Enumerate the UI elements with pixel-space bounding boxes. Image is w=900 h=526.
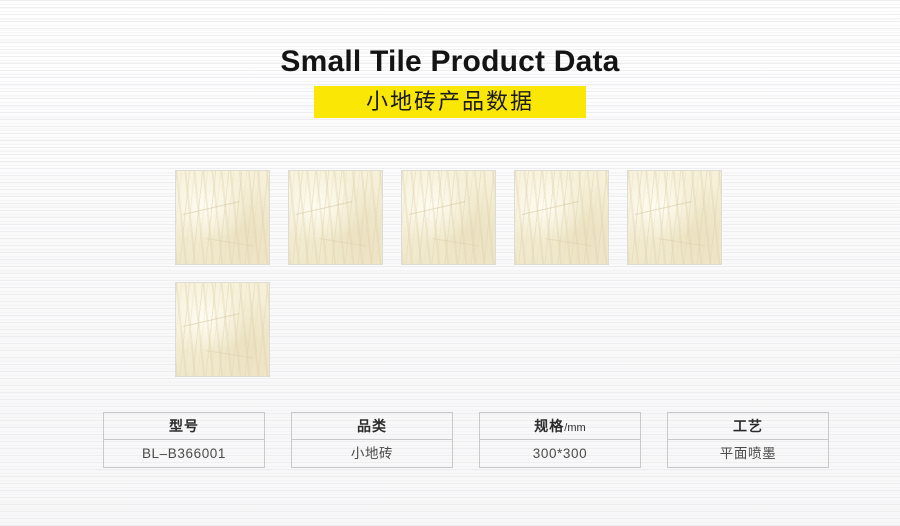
tile-gallery — [175, 170, 735, 394]
spec-header-category-label: 品类 — [357, 418, 387, 434]
spec-column-model: 型号 BL–B366001 — [103, 412, 265, 468]
spec-value-model: BL–B366001 — [104, 440, 264, 467]
tile-swatch-4[interactable] — [514, 170, 609, 265]
spec-value-category: 小地砖 — [292, 440, 452, 467]
spec-header-size: 规格/mm — [480, 413, 640, 440]
tile-row-2 — [175, 282, 735, 377]
page-header: Small Tile Product Data 小地砖产品数据 — [0, 44, 900, 118]
spec-table: 型号 BL–B366001 品类 小地砖 规格/mm 300*300 工艺 平面… — [103, 412, 829, 468]
spec-column-process: 工艺 平面喷墨 — [667, 412, 829, 468]
tile-swatch-1[interactable] — [175, 170, 270, 265]
spec-header-size-label: 规格 — [534, 418, 564, 434]
tile-row-1 — [175, 170, 735, 265]
tile-swatch-2[interactable] — [288, 170, 383, 265]
page-root: Small Tile Product Data 小地砖产品数据 型号 BL–B3… — [0, 0, 900, 526]
spec-header-category: 品类 — [292, 413, 452, 440]
spec-header-process: 工艺 — [668, 413, 828, 440]
page-title-chinese-highlight: 小地砖产品数据 — [314, 86, 586, 118]
spec-header-model-label: 型号 — [169, 418, 199, 434]
page-subtitle-wrapper: 小地砖产品数据 — [0, 86, 900, 118]
page-title-english: Small Tile Product Data — [0, 44, 900, 80]
spec-value-size: 300*300 — [480, 440, 640, 467]
spec-value-process: 平面喷墨 — [668, 440, 828, 467]
spec-column-size: 规格/mm 300*300 — [479, 412, 641, 468]
spec-header-model: 型号 — [104, 413, 264, 440]
spec-header-process-label: 工艺 — [733, 418, 763, 434]
spec-header-size-unit: /mm — [564, 422, 585, 434]
spec-column-category: 品类 小地砖 — [291, 412, 453, 468]
tile-swatch-6[interactable] — [175, 282, 270, 377]
tile-swatch-5[interactable] — [627, 170, 722, 265]
tile-swatch-3[interactable] — [401, 170, 496, 265]
